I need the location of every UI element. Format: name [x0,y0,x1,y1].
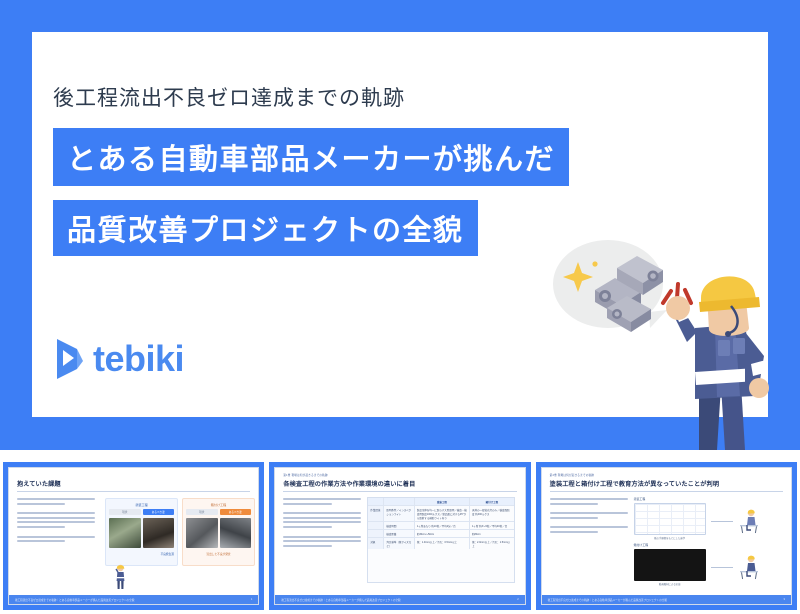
table-row: 作業環境 照明条件／インスペクションライト 製品全体を均一に照らす大型照明／検査… [368,506,513,522]
photo-assembly-parts [186,518,218,548]
slide-1-page-number: 1 [251,598,252,601]
slide-thumbnail-3[interactable]: 第2章 現場は何が起きるまでの軌跡 塗装工程と箱付け工程で教育方法が異なっていた… [536,462,797,610]
person-at-desk-icon [738,508,760,534]
panel-paint-photos [109,518,174,548]
slide-1-panel-assembly: 箱付け工程 現状 あるべき姿 流出した不良が発覚 [182,498,255,566]
slide-3-body [550,498,628,536]
table-row: 検査距離 約30cm〜50cm 約80cm [368,530,513,538]
table-cell-item: 判定基準（傷サイズなど） [384,538,415,549]
slide-1-body [17,498,95,545]
slide-2-divider [283,491,516,492]
table-cell-item: 検査距離 [384,530,415,537]
hero-eyebrow: 後工程流出不良ゼロ達成までの軌跡 [53,82,405,112]
block-assembly-media: 動画教材による実演 [634,549,782,586]
document-screen [634,503,706,535]
panel-paint-tab-ideal[interactable]: あるべき姿 [143,509,175,515]
slide-1-divider [17,491,250,492]
panel-paint-tabs: 現状 あるべき姿 [109,509,174,515]
tebiki-logo: tebiki [55,337,184,381]
table-cell-item: 検査時間 [384,522,415,529]
hero-title-line-2: 品質改善プロジェクトの全貌 [53,200,478,256]
panel-assembly-note: 流出した不良が発覚 [186,552,251,556]
block-paint-caption: 紙の手順書をもとにした座学 [634,536,706,540]
slide-1-title: 抱えていた課題 [17,479,61,488]
table-cell-paint: 傷：1.0mm以上／汚れ：0.5mm以上 [415,538,470,549]
slide-2-page-number: 2 [517,598,518,601]
panel-assembly-label: 箱付け工程 [186,502,251,507]
photo-paint-booth [109,518,141,548]
panel-assembly-tab-current[interactable]: 現状 [186,509,218,515]
slide-3-canvas: 第2章 現場は何が起きるまでの軌跡 塗装工程と箱付け工程で教育方法が異なっていた… [541,467,792,605]
connector-line [711,567,733,568]
table-cell-group: 対象 [368,538,384,549]
slide-1-canvas: 抱えていた課題 塗装工程 現状 あるべき姿 不良発生源 [8,467,259,605]
panel-assembly-photos [186,518,251,548]
factory-worker-illustration [545,236,800,450]
table-header-row: 塗装工程 箱付け工程 [368,498,513,506]
table-header-1 [384,498,415,505]
table-row: 対象 判定基準（傷サイズなど） 傷：1.0mm以上／汚れ：0.5mm以上 傷：2… [368,538,513,549]
hero-section: 後工程流出不良ゼロ達成までの軌跡 とある自動車部品メーカーが挑んだ 品質改善プロ… [0,0,800,450]
slide-2-canvas: 第1章 現場は何が起きるまでの軌跡 各検査工程の作業方法や作業環境の違いに着目 … [274,467,525,605]
slide-3-block-assembly: 箱付け工程 動画教材による実演 [634,543,782,586]
table-cell-group [368,530,384,537]
tebiki-play-book-mark [55,337,85,381]
slide-3-title: 塗装工程と箱付け工程で教育方法が異なっていたことが判明 [550,479,719,488]
block-paint-media: 紙の手順書をもとにした座学 [634,503,782,540]
table-cell-group [368,522,384,529]
table-header-3: 箱付け工程 [470,498,514,505]
hero-title-line-1: とある自動車部品メーカーが挑んだ [53,128,569,186]
slide-1-panel-paint: 塗装工程 現状 あるべき姿 不良発生源 [105,498,178,566]
panel-paint-note: 不良発生源 [109,552,174,556]
block-assembly-label: 箱付け工程 [634,543,782,547]
slide-3-divider [550,491,783,492]
table-cell-assembly: 傷：2.0mm以上／汚れ：1.5mm以上 [470,538,514,549]
panel-paint-label: 塗装工程 [109,502,174,507]
table-header-0 [368,498,384,505]
table-row: 検査時間 1ヶ所あたり 約10秒／平均2分／台 1ヶ所 約3〜5秒／平均40秒／… [368,522,513,530]
slide-1-footer-text: 後工程流出不良ゼロ達成までの軌跡｜とある自動車部品メーカーが挑んだ品質改善プロジ… [15,598,134,602]
slide-3-footer-text: 後工程流出不良ゼロ達成までの軌跡｜とある自動車部品メーカーが挑んだ品質改善プロジ… [548,598,667,602]
slide-2-footer-text: 後工程流出不良ゼロ達成までの軌跡｜とある自動車部品メーカーが挑んだ品質改善プロジ… [281,598,400,602]
panel-assembly-tabs: 現状 あるべき姿 [186,509,251,515]
video-screen [634,549,706,581]
slide-2-title: 各検査工程の作業方法や作業環境の違いに着目 [283,479,415,488]
slide-thumbnail-2[interactable]: 第1章 現場は何が起きるまでの軌跡 各検査工程の作業方法や作業環境の違いに着目 … [269,462,530,610]
table-cell-paint: 約30cm〜50cm [415,530,470,537]
table-cell-assembly: 約80cm [470,530,514,537]
block-assembly-caption: 動画教材による実演 [634,582,706,586]
connector-line [711,521,733,522]
block-paint-label: 塗装工程 [634,497,782,501]
slide-3-page-number: 3 [784,598,785,601]
slide-2-comparison-table: 塗装工程 箱付け工程 作業環境 照明条件／インスペクションライト 製品全体を均一… [367,497,514,583]
person-at-desk-icon [738,554,760,580]
slide-thumbnail-1[interactable]: 抱えていた課題 塗装工程 現状 あるべき姿 不良発生源 [3,462,264,610]
panel-paint-tab-current[interactable]: 現状 [109,509,141,515]
table-header-2: 塗装工程 [415,498,470,505]
slide-3-footer: 後工程流出不良ゼロ達成までの軌跡｜とある自動車部品メーカーが挑んだ品質改善プロジ… [542,595,791,604]
slide-2-kicker: 第1章 現場は何が起きるまでの軌跡 [283,473,327,477]
table-cell-paint: 1ヶ所あたり 約10秒／平均2分／台 [415,522,470,529]
table-cell-assembly: 天井の一般蛍光灯のみ／検査面照度 約400ルクス [470,506,514,521]
worker-icon [114,564,127,590]
table-cell-assembly: 1ヶ所 約3〜5秒／平均40秒／台 [470,522,514,529]
slide-3-block-paint: 塗装工程 紙の手順書をもとにした座学 [634,497,782,540]
table-cell-item: 照明条件／インスペクションライト [384,506,415,521]
table-cell-paint: 製品全体を均一に照らす大型照明／検査・検査用照度1000ルクス／製品面に対する4… [415,506,470,521]
table-cell-group: 作業環境 [368,506,384,521]
photo-assembly-line [220,518,252,548]
tebiki-wordmark: tebiki [93,341,184,377]
slide-1-footer: 後工程流出不良ゼロ達成までの軌跡｜とある自動車部品メーカーが挑んだ品質改善プロジ… [9,595,258,604]
panel-assembly-tab-ideal[interactable]: あるべき姿 [220,509,252,515]
slide-2-body [283,498,361,549]
slide-3-kicker: 第2章 現場は何が起きるまでの軌跡 [550,473,594,477]
slide-thumbnail-row: 抱えていた課題 塗装工程 現状 あるべき姿 不良発生源 [0,450,800,614]
photo-paint-operator [143,518,175,548]
slide-2-footer: 後工程流出不良ゼロ達成までの軌跡｜とある自動車部品メーカーが挑んだ品質改善プロジ… [275,595,524,604]
